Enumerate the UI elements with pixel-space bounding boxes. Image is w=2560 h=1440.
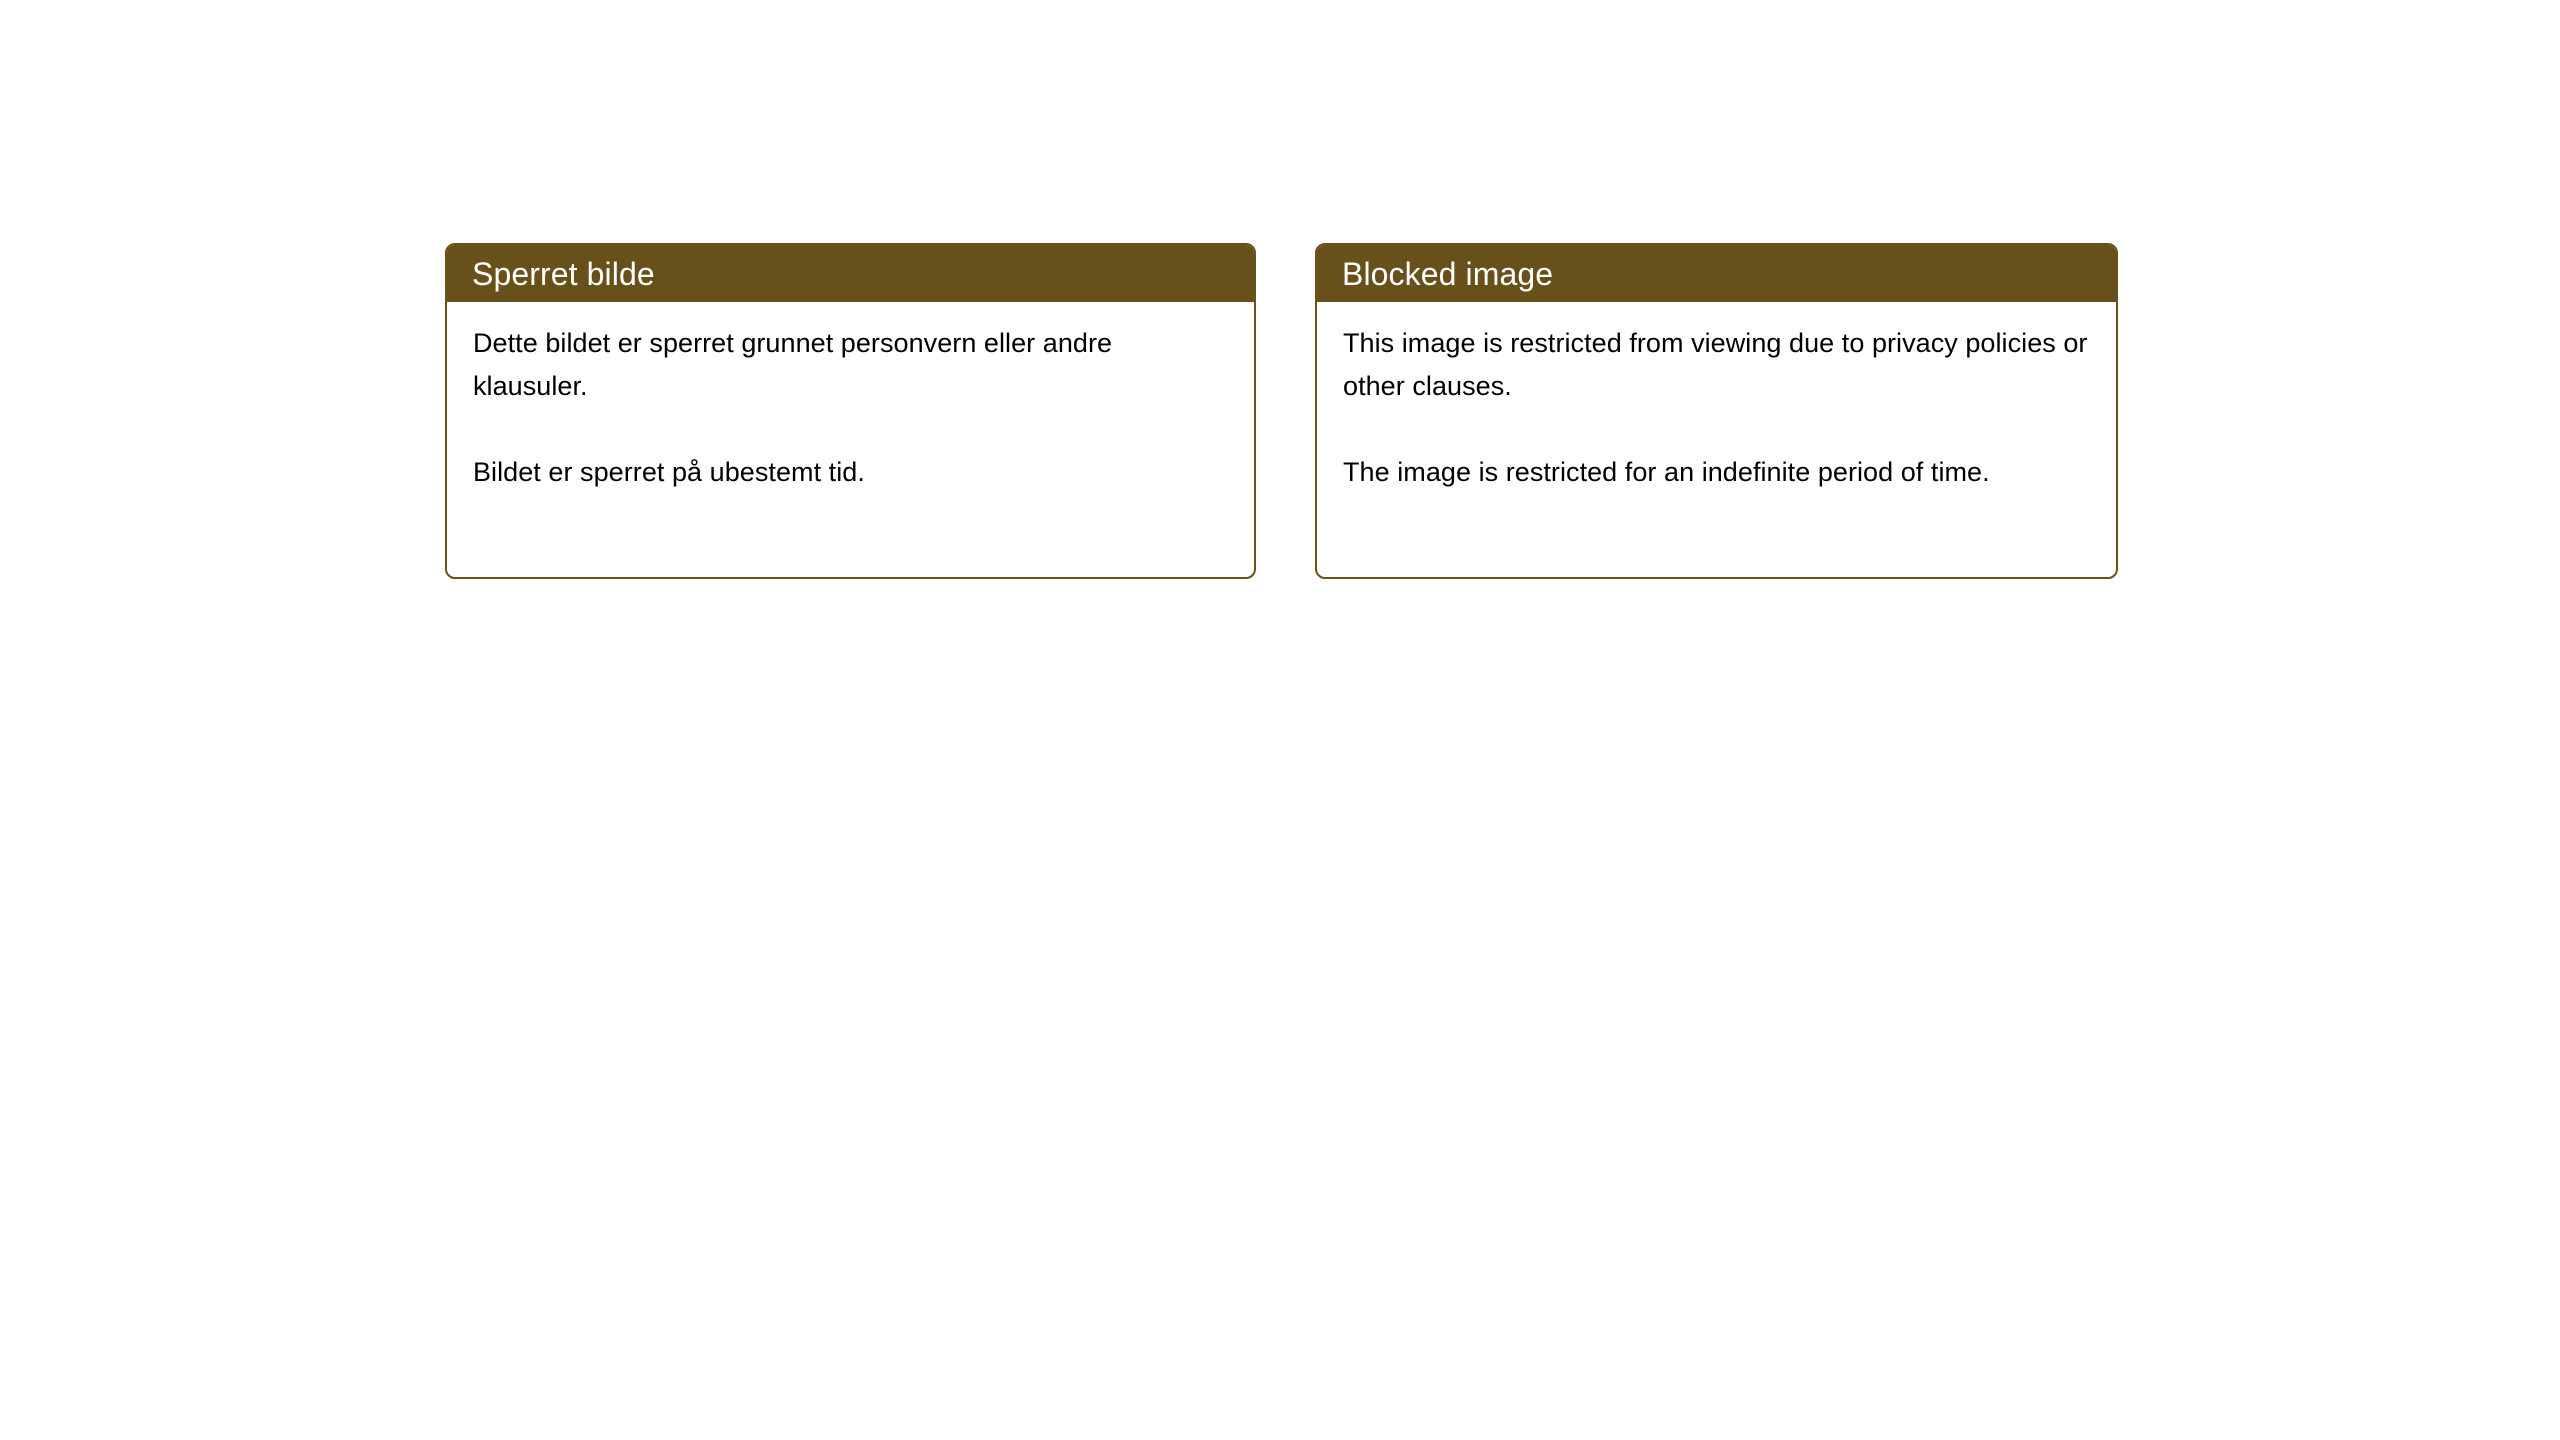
card-paragraph-secondary-english: The image is restricted for an indefinit…: [1343, 451, 2092, 494]
card-paragraph-secondary-norwegian: Bildet er sperret på ubestemt tid.: [473, 451, 1230, 494]
page-root: Sperret bilde Dette bildet er sperret gr…: [0, 0, 2560, 1440]
card-body-english: This image is restricted from viewing du…: [1317, 302, 2116, 494]
card-title-norwegian: Sperret bilde: [472, 258, 655, 290]
card-header-english: Blocked image: [1317, 245, 2116, 302]
card-body-norwegian: Dette bildet er sperret grunnet personve…: [447, 302, 1254, 494]
card-header-norwegian: Sperret bilde: [447, 245, 1254, 302]
blocked-image-notice-card-norwegian: Sperret bilde Dette bildet er sperret gr…: [445, 243, 1256, 579]
blocked-image-notice-card-english: Blocked image This image is restricted f…: [1315, 243, 2118, 579]
card-title-english: Blocked image: [1342, 258, 1553, 290]
card-paragraph-primary-norwegian: Dette bildet er sperret grunnet personve…: [473, 322, 1230, 408]
card-paragraph-primary-english: This image is restricted from viewing du…: [1343, 322, 2092, 408]
